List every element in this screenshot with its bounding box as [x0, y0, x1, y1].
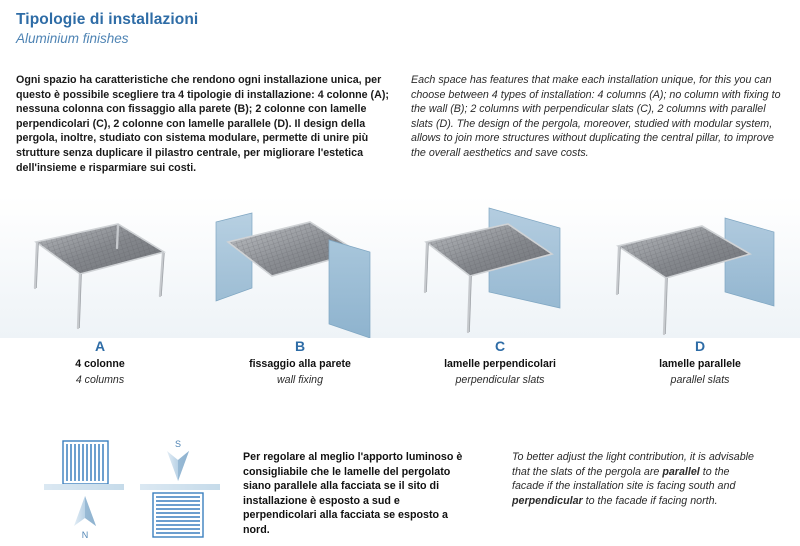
installation-types-page: Tipologie di installazioni Aluminium fin…: [0, 0, 800, 546]
note-paragraph-english: To better adjust the light contribution,…: [512, 450, 764, 508]
caption-label-en-d: parallel slats: [600, 373, 800, 388]
caption-c: C lamelle perpendicolari perpendicular s…: [400, 338, 600, 388]
caption-label-it-a: 4 colonne: [0, 357, 200, 372]
installation-gallery: [0, 196, 800, 338]
intro-paragraph-italian: Ogni spazio ha caratteristiche che rendo…: [16, 73, 390, 175]
caption-label-it-b: fissaggio alla parete: [200, 357, 400, 372]
pergola-image-a: [0, 196, 200, 338]
caption-letter-a: A: [0, 338, 200, 355]
south-label: S: [175, 439, 181, 449]
caption-letter-d: D: [600, 338, 800, 355]
pergola-image-c: [400, 196, 600, 338]
page-header: Tipologie di installazioni Aluminium fin…: [16, 10, 198, 48]
caption-label-en-c: perpendicular slats: [400, 373, 600, 388]
caption-label-it-c: lamelle perpendicolari: [400, 357, 600, 372]
page-subtitle: Aluminium finishes: [16, 30, 198, 48]
caption-letter-b: B: [200, 338, 400, 355]
intro-paragraph-english: Each space has features that make each i…: [411, 73, 789, 161]
caption-label-en-b: wall fixing: [200, 373, 400, 388]
caption-label-it-d: lamelle parallele: [600, 357, 800, 372]
caption-b: B fissaggio alla parete wall fixing: [200, 338, 400, 388]
caption-a: A 4 colonne 4 columns: [0, 338, 200, 388]
caption-letter-c: C: [400, 338, 600, 355]
caption-d: D lamelle parallele parallel slats: [600, 338, 800, 388]
south-orientation-group: S: [140, 439, 220, 537]
pergola-image-b: [200, 196, 400, 338]
pergola-image-d: [600, 196, 800, 338]
north-orientation-group: N: [44, 441, 124, 540]
orientation-diagram: N S: [40, 436, 230, 540]
north-label: N: [82, 530, 89, 540]
caption-label-en-a: 4 columns: [0, 373, 200, 388]
page-title: Tipologie di installazioni: [16, 10, 198, 29]
note-paragraph-italian: Per regolare al meglio l'apporto luminos…: [243, 450, 475, 538]
